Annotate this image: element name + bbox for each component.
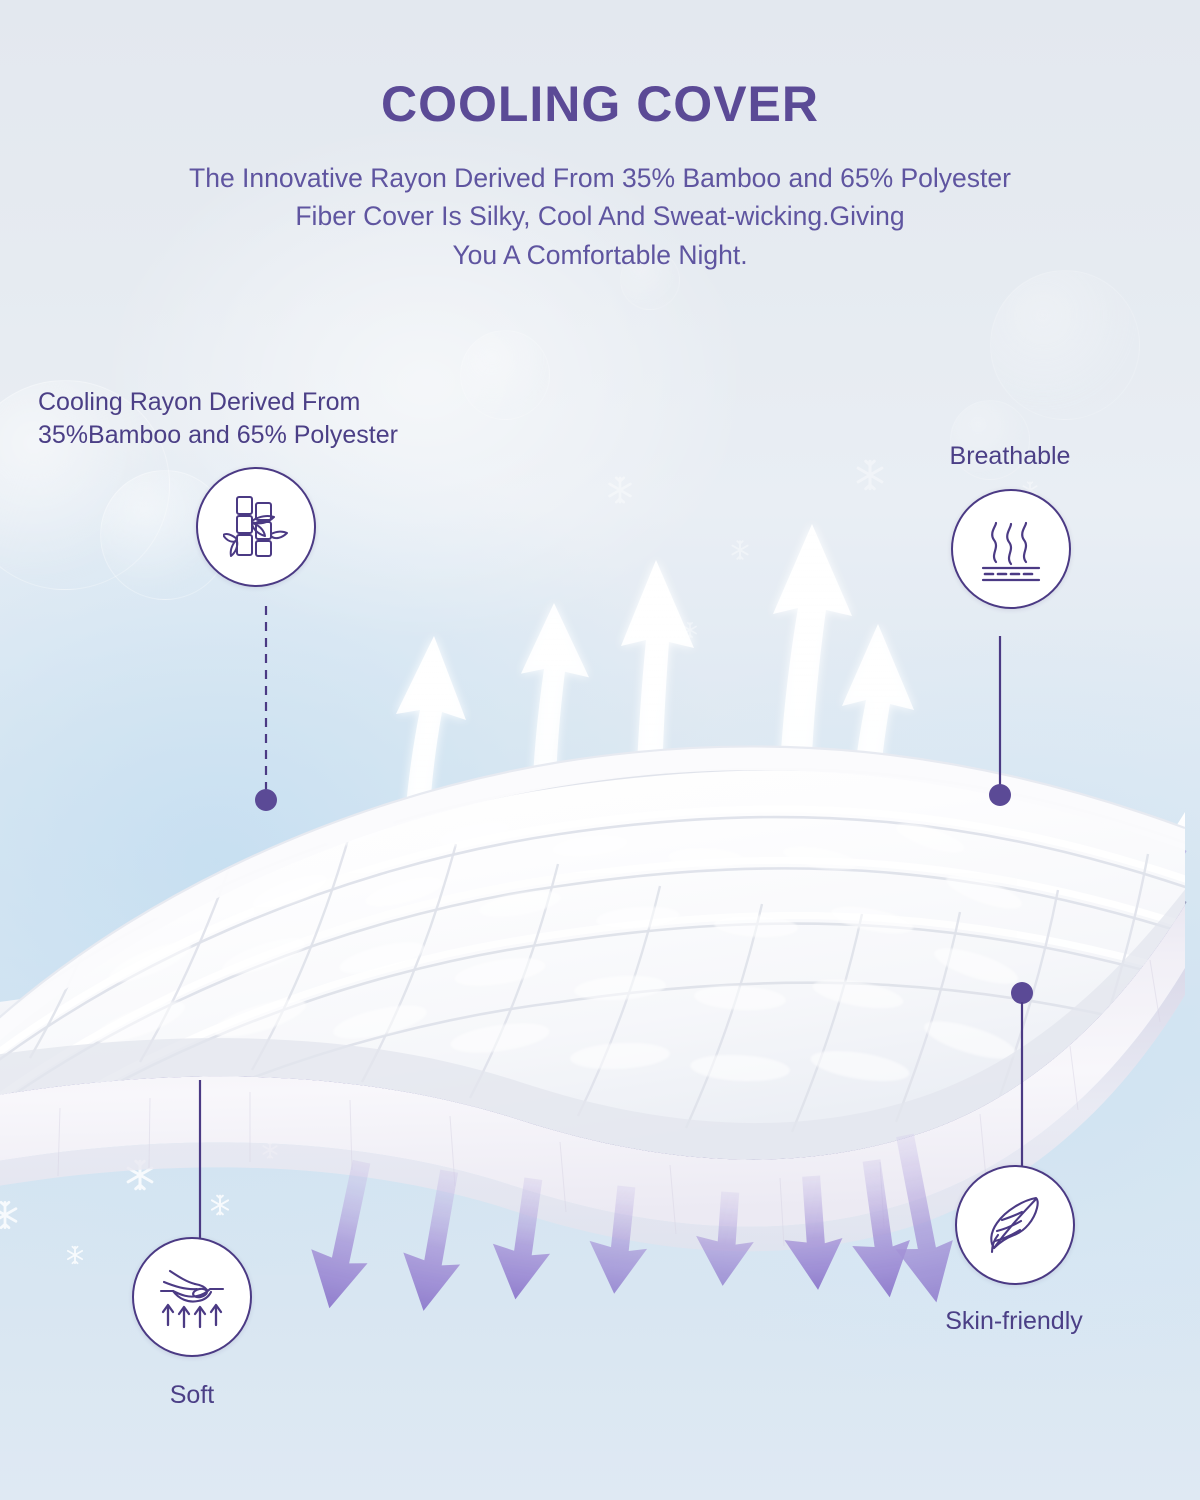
callout-skin-friendly-icon-circle[interactable]: [955, 1165, 1075, 1285]
callout-bamboo-label-line-1: Cooling Rayon Derived From: [38, 386, 398, 419]
breathable-steam-icon: [976, 516, 1046, 582]
callout-skin-friendly-label: Skin-friendly: [919, 1305, 1109, 1338]
connector-dot-bamboo: [255, 789, 277, 811]
callout-breathable[interactable]: Breathable: [925, 440, 1095, 609]
callout-soft-label: Soft: [132, 1379, 252, 1412]
connector-dot-breathable: [989, 784, 1011, 806]
callout-bamboo-icon-circle[interactable]: [196, 467, 316, 587]
callout-soft[interactable]: Soft: [132, 1237, 252, 1412]
feather-leaf-icon: [980, 1190, 1050, 1260]
bamboo-stalks-icon: [223, 490, 289, 564]
hand-pressing-soft-icon: [155, 1265, 229, 1329]
callout-breathable-label: Breathable: [925, 440, 1095, 473]
callout-bamboo[interactable]: Cooling Rayon Derived From 35%Bamboo and…: [38, 386, 398, 587]
callout-skin-friendly[interactable]: Skin-friendly: [955, 1165, 1109, 1338]
connector-dot-skin-friendly: [1011, 982, 1033, 1004]
callout-bamboo-label-line-2: 35%Bamboo and 65% Polyester: [38, 419, 398, 452]
callout-breathable-icon-circle[interactable]: [951, 489, 1071, 609]
callout-bamboo-label: Cooling Rayon Derived From 35%Bamboo and…: [38, 386, 398, 451]
callout-soft-icon-circle[interactable]: [132, 1237, 252, 1357]
